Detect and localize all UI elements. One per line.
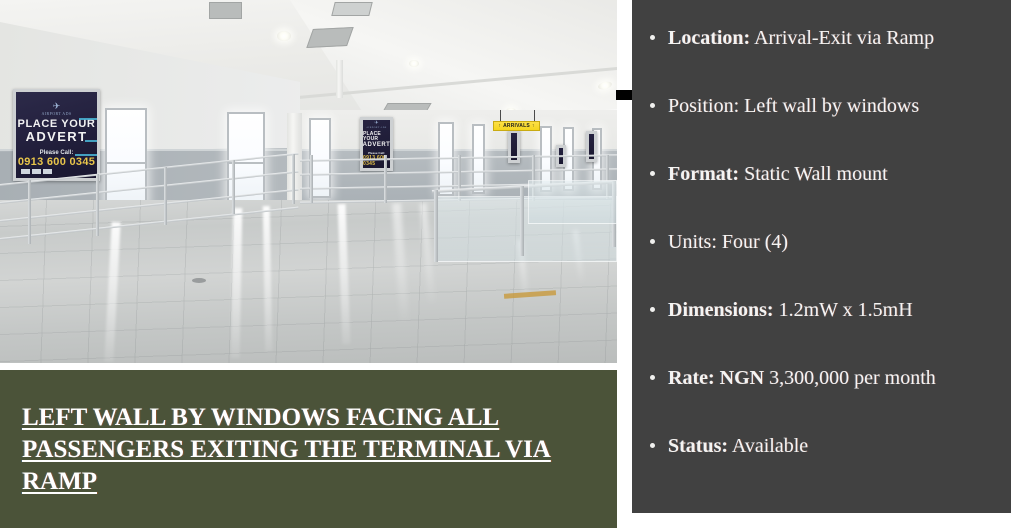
spec-item-location: Location: Arrival-Exit via Ramp [642,26,1001,50]
poster-phone-number: 0913 600 0345 [18,156,95,168]
spec-key: Rate: NGN [668,367,764,389]
spec-item-position: Position: Left wall by windows [642,94,1001,118]
spec-item-units: Units: Four (4) [642,230,1001,254]
spec-value: Static Wall mount [739,163,888,185]
ceiling-vent [331,2,372,16]
spec-key: Format: [668,163,739,185]
spec-item-format: Format: Static Wall mount [642,162,1001,186]
ceiling-vent [209,2,242,19]
glass-balustrade [528,180,617,224]
ceiling-vent [306,27,353,48]
railing-left-run [0,180,300,252]
spec-item-rate: Rate: NGN 3,300,000 per month [642,366,1001,390]
caption-banner: LEFT WALL BY WINDOWS FACING ALL PASSENGE… [0,370,617,528]
poster-footer-logos [19,168,94,175]
spec-value: 1.2mW x 1.5mH [774,299,913,321]
poster-line2: ADVERT [363,142,391,148]
ceiling-downlight [409,60,419,67]
poster-brand: AIRPORT ADS [42,111,72,116]
spec-item-dimensions: Dimensions: 1.2mW x 1.5mH [642,298,1001,322]
spec-value: 3,300,000 per month [764,367,936,389]
poster-brand: AIRPORT ADS [366,126,386,129]
arrow-up-left-icon: ↑ [498,123,501,129]
arrivals-wayfinding-sign: ↑ ARRIVALS ↑ [493,121,540,131]
airplane-icon: ✈ [53,102,61,111]
spec-key: Units: [668,231,717,253]
floor-drain-cover [192,278,206,283]
spec-key: Dimensions: [668,299,774,321]
arrivals-sign-label: ARRIVALS [503,123,530,129]
spec-value: Four (4) [717,231,788,253]
advert-poster-primary: ✈ AIRPORT ADS PLACE YOUR ADVERT Please C… [13,89,100,181]
spec-value: Available [728,435,808,457]
structural-column [336,60,343,98]
arrow-up-right-icon: ↑ [532,123,535,129]
panel-notch-marker [616,90,632,100]
spec-key: Location: [668,27,750,49]
poster-line2: ADVERT [26,130,88,144]
specification-list: Location: Arrival-Exit via Ramp Position… [642,26,1001,458]
spec-value: Left wall by windows [739,95,919,117]
spec-key: Position: [668,95,739,117]
terminal-photo: ✈ AIRPORT ADS PLACE YOUR ADVERT Please C… [0,0,617,363]
ceiling-downlight [277,31,291,41]
specification-panel: Location: Arrival-Exit via Ramp Position… [632,0,1011,513]
spec-value: Arrival-Exit via Ramp [750,27,934,49]
spec-item-status: Status: Available [642,434,1001,458]
caption-text: LEFT WALL BY WINDOWS FACING ALL PASSENGE… [22,402,595,498]
poster-line1: PLACE YOUR [363,132,390,143]
photo-scene: ✈ AIRPORT ADS PLACE YOUR ADVERT Please C… [0,0,617,363]
spec-key: Status: [668,435,728,457]
